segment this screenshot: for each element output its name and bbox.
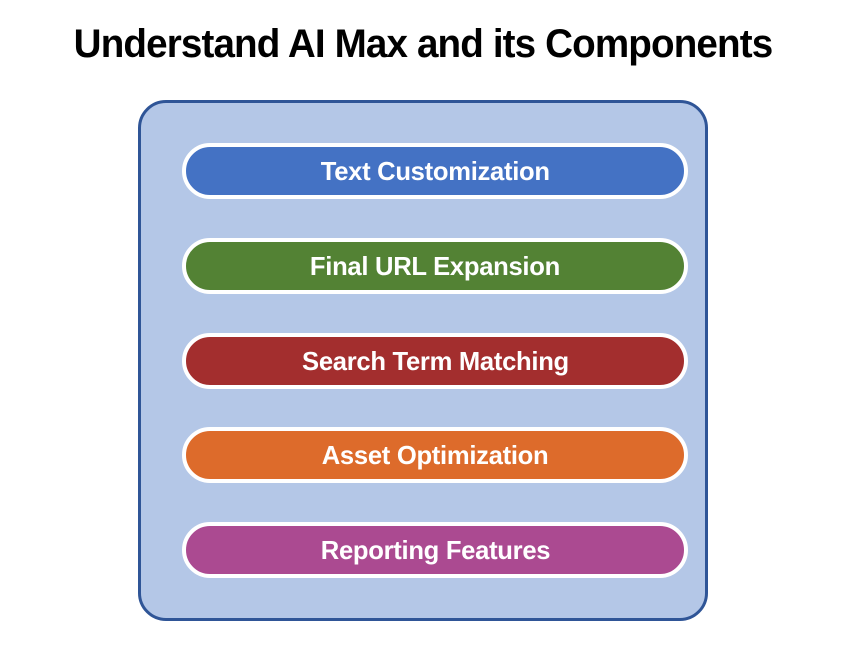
- component-label: Search Term Matching: [302, 346, 569, 376]
- component-item-final-url-expansion[interactable]: Final URL Expansion: [182, 238, 688, 294]
- component-item-asset-optimization[interactable]: Asset Optimization: [182, 427, 688, 483]
- component-item-reporting-features[interactable]: Reporting Features: [182, 522, 688, 578]
- page-title: Understand AI Max and its Components: [15, 20, 831, 68]
- component-label: Final URL Expansion: [310, 251, 560, 281]
- components-list: Text Customization Final URL Expansion S…: [141, 103, 705, 618]
- component-label: Reporting Features: [320, 535, 549, 565]
- components-container: Text Customization Final URL Expansion S…: [138, 100, 708, 621]
- component-item-search-term-matching[interactable]: Search Term Matching: [182, 333, 688, 389]
- component-label: Text Customization: [321, 156, 550, 186]
- component-item-text-customization[interactable]: Text Customization: [182, 143, 688, 199]
- diagram-root: Understand AI Max and its Components Tex…: [0, 0, 846, 668]
- component-label: Asset Optimization: [322, 440, 549, 470]
